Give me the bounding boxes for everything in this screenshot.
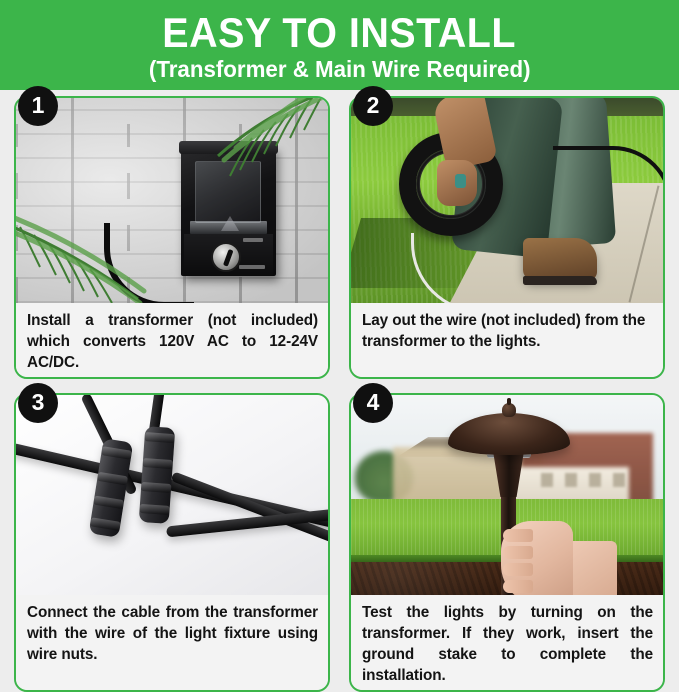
connector-rib [93,496,124,510]
transformer-timer-dial [211,242,241,272]
step-4-caption: Test the lights by turning on the transf… [351,595,663,690]
white-studio-background [16,395,328,595]
page-subtitle: (Transformer & Main Wire Required) [149,56,531,82]
step-3-caption: Connect the cable from the transformer w… [16,595,328,690]
step-card-4-body: Test the lights by turning on the transf… [349,393,665,692]
step-card-3-body: Connect the cable from the transformer w… [14,393,330,692]
connector-rib [143,458,174,469]
steps-grid: 1 [0,90,679,679]
connector-rib [90,517,121,531]
step-card-3: 3 [14,393,330,692]
house-window [589,473,601,487]
loose-wire-right [553,146,663,216]
connector-rib [101,446,132,460]
finger [503,580,533,593]
person-hand-holding-light [501,521,573,595]
house-window [541,473,553,487]
step-card-2-body: Lay out the wire (not included) from the… [349,96,665,379]
finger [503,563,533,576]
step-badge-4: 4 [353,383,393,423]
finger [503,546,533,559]
finger [503,529,533,542]
connector-rib [141,482,172,493]
transformer-label-bottom [239,265,265,269]
transformer-ledge [190,221,267,234]
step-badge-2: 2 [353,86,393,126]
step-2-photo [351,98,663,303]
step-card-1: 1 [14,96,330,379]
connector-rib [97,472,128,486]
transformer-top-cap [179,141,278,154]
page-title: EASY TO INSTALL [163,11,517,55]
step-4-photo [351,395,663,595]
step-3-photo [16,395,328,595]
step-1-caption: Install a transformer (not included) whi… [16,303,328,377]
step-badge-1: 1 [18,86,58,126]
step-card-2: 2 Lay out the wire (not include [349,96,665,379]
connector-rib [144,432,175,443]
house-window [565,473,577,487]
step-card-4: 4 [349,393,665,692]
connector-rib [139,504,170,515]
step-1-photo [16,98,328,303]
wire-connector-cap [455,174,466,188]
transformer-window [195,161,261,223]
house-window [613,473,625,487]
header-banner: EASY TO INSTALL (Transformer & Main Wire… [0,0,679,90]
transformer-unit [181,146,276,276]
step-2-caption: Lay out the wire (not included) from the… [351,303,663,377]
step-badge-3: 3 [18,383,58,423]
step-card-1-body: Install a transformer (not included) whi… [14,96,330,379]
light-finial [502,403,516,417]
transformer-label-top [243,238,263,242]
